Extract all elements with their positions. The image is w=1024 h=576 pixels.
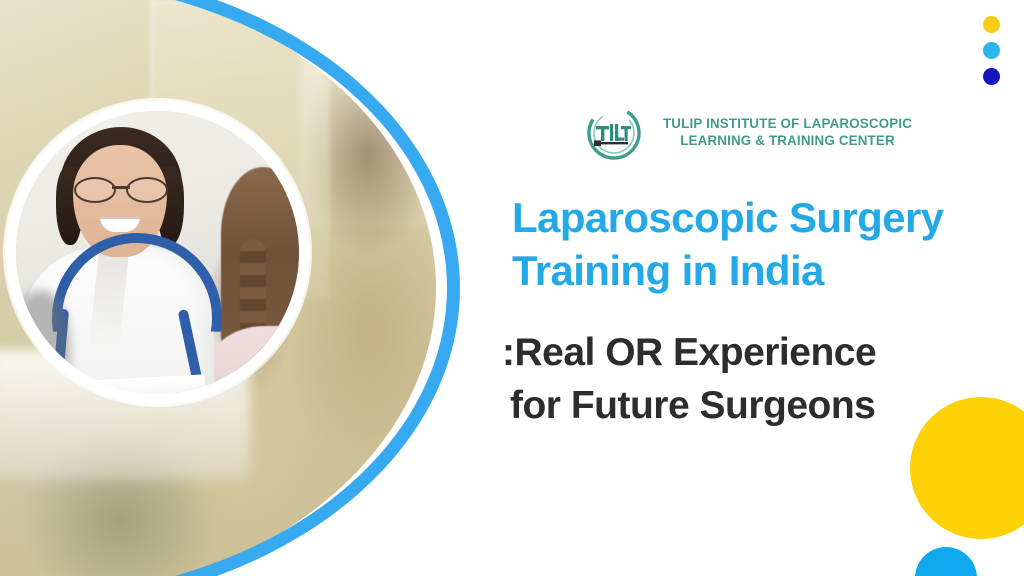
decor-dot-stack	[983, 16, 1000, 85]
brand-logo[interactable]: TULIP INSTITUTE OF LAPAROSCOPIC LEARNING…	[584, 103, 920, 163]
foreground-blur	[6, 291, 70, 405]
dot-yellow-icon	[983, 16, 1000, 33]
brand-name-line-1: TULIP INSTITUTE OF LAPAROSCOPIC	[663, 116, 912, 133]
dot-cyan-icon	[983, 42, 1000, 59]
headline-line-2: Training in India	[512, 247, 824, 294]
marketing-banner: TULIP INSTITUTE OF LAPAROSCOPIC LEARNING…	[0, 0, 1024, 576]
headline-line-1: Laparoscopic Surgery	[512, 194, 943, 241]
glasses-lens-right	[126, 177, 168, 203]
dot-navy-icon	[983, 68, 1000, 85]
tilt-circular-monogram-icon	[584, 103, 644, 163]
doctor-photo	[16, 111, 299, 394]
patient-shoulder	[204, 326, 310, 405]
subheading-line-1: :Real OR Experience	[502, 326, 1022, 379]
glasses-icon	[74, 177, 168, 199]
headline: Laparoscopic Surgery Training in India	[512, 192, 1024, 298]
brand-name: TULIP INSTITUTE OF LAPAROSCOPIC LEARNING…	[655, 116, 920, 151]
doctor-portrait-circle	[5, 100, 310, 405]
glasses-lens-left	[74, 177, 116, 203]
brand-name-line-2: LEARNING & TRAINING CENTER	[663, 133, 912, 150]
